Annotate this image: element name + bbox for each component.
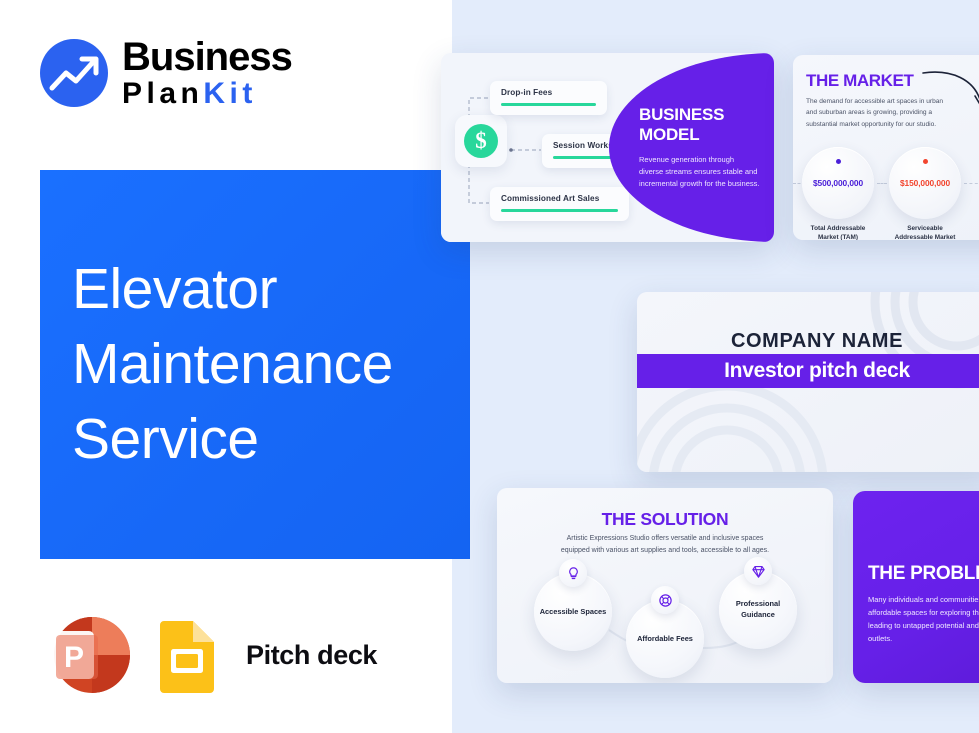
metric-value: $500,000,000 bbox=[813, 178, 863, 188]
business-model-title: BUSINESS MODEL bbox=[639, 105, 760, 144]
revenue-stream-card[interactable]: Drop-in Fees bbox=[490, 81, 607, 115]
revenue-stream-label: Drop-in Fees bbox=[501, 88, 596, 97]
brand-name-kit: Kit bbox=[203, 77, 257, 110]
brand-logo: Business PlanKit bbox=[40, 37, 292, 109]
slide-the-problem[interactable]: THE PROBLEM Many individuals and communi… bbox=[853, 491, 979, 683]
promo-canvas: Business PlanKit Elevator Maintenance Se… bbox=[0, 0, 979, 733]
powerpoint-icon: P bbox=[40, 609, 132, 701]
problem-body: Many individuals and communities lack ac… bbox=[868, 593, 979, 645]
business-model-body: Revenue generation through diverse strea… bbox=[639, 154, 760, 190]
revenue-stream-label: Commissioned Art Sales bbox=[501, 194, 618, 203]
page-title: Elevator Maintenance Service bbox=[72, 252, 472, 478]
card-underline bbox=[501, 103, 596, 106]
brand-name-business: Business bbox=[122, 37, 292, 77]
metric-disc: $500,000,000 bbox=[802, 147, 874, 219]
solution-label: Professional Guidance bbox=[719, 599, 797, 620]
solution-node[interactable]: Affordable Fees bbox=[626, 600, 704, 678]
solution-label: Affordable Fees bbox=[637, 634, 693, 645]
metric-dot bbox=[836, 159, 841, 164]
lifebuoy-icon bbox=[651, 586, 679, 614]
lightbulb-icon bbox=[559, 559, 587, 587]
metric-dot bbox=[923, 159, 928, 164]
metric-label: Total Addressable Market (TAM) bbox=[802, 225, 874, 240]
card-underline bbox=[501, 209, 618, 212]
market-title: THE MARKET bbox=[806, 71, 913, 91]
market-body: The demand for accessible art spaces in … bbox=[806, 96, 954, 130]
solution-disc: Professional Guidance bbox=[719, 571, 797, 649]
market-metric: $150,000,000 Serviceable Addressable Mar… bbox=[889, 147, 961, 240]
format-label: Pitch deck bbox=[246, 640, 377, 671]
market-metric: $500,000,000 Total Addressable Market (T… bbox=[802, 147, 874, 240]
solution-node[interactable]: Accessible Spaces bbox=[534, 573, 612, 651]
metric-disc: $150,000,000 bbox=[889, 147, 961, 219]
brand-name-plan-kit: PlanKit bbox=[122, 79, 292, 109]
google-slides-icon bbox=[156, 617, 218, 693]
dollar-sign-icon: $ bbox=[455, 115, 507, 167]
brand-wordmark: Business PlanKit bbox=[122, 37, 292, 109]
solution-label: Accessible Spaces bbox=[540, 607, 607, 618]
pitch-deck-subtitle: Investor pitch deck bbox=[724, 359, 910, 383]
metric-label: Serviceable Addressable Market (SAM) bbox=[889, 225, 961, 240]
slide-company-name[interactable]: COMPANY NAME Investor pitch deck bbox=[637, 292, 979, 472]
slide-business-model[interactable]: $ Drop-in Fees Session Workshops Commiss… bbox=[441, 53, 774, 242]
svg-text:P: P bbox=[64, 641, 84, 674]
slide-the-solution[interactable]: THE SOLUTION Artistic Expressions Studio… bbox=[497, 488, 833, 683]
company-name: COMPANY NAME bbox=[637, 330, 979, 353]
problem-title: THE PROBLEM bbox=[868, 563, 979, 585]
slide-the-market[interactable]: THE MARKET The demand for accessible art… bbox=[793, 55, 979, 240]
pitch-deck-band: Investor pitch deck bbox=[637, 354, 979, 388]
revenue-stream-card[interactable]: Commissioned Art Sales bbox=[490, 187, 629, 221]
solution-disc: Affordable Fees bbox=[626, 600, 704, 678]
solution-disc: Accessible Spaces bbox=[534, 573, 612, 651]
solution-node[interactable]: Professional Guidance bbox=[719, 571, 797, 649]
metric-value: $150,000,000 bbox=[900, 178, 950, 188]
diamond-icon bbox=[744, 557, 772, 585]
brand-name-plan: Plan bbox=[122, 77, 203, 110]
format-icon-row: P Pitch deck bbox=[40, 609, 377, 701]
dollar-symbol: $ bbox=[464, 124, 498, 158]
growth-chart-circle-icon bbox=[40, 39, 108, 107]
